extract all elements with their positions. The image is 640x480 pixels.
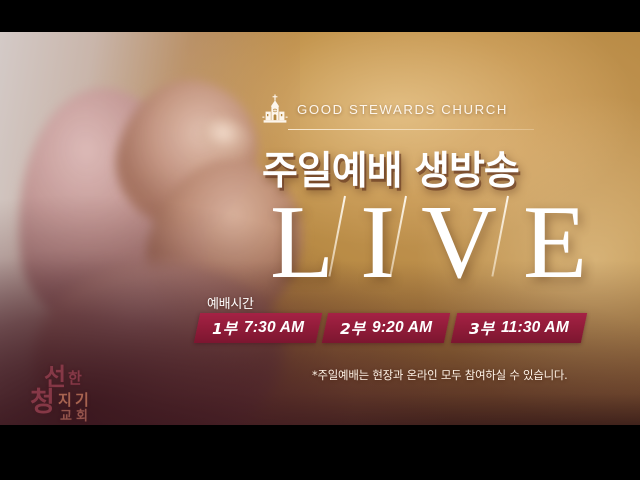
brand-name: GOOD STEWARDS CHURCH: [297, 102, 508, 117]
poster-content: GOOD STEWARDS CHURCH 주일예배 생방송 L I V E 예배…: [0, 32, 640, 425]
letterbox-bar-top: [0, 0, 640, 32]
live-letter-v: V: [421, 192, 497, 293]
live-slash-1: [334, 192, 360, 278]
service-time-2: 9:20 AM: [372, 319, 432, 337]
live-slash-3: [497, 192, 523, 278]
letterbox-bar-bottom: [0, 425, 640, 480]
service-times-label: 예배시간: [207, 293, 254, 312]
live-letter-l: L: [270, 192, 334, 293]
brand-divider: [288, 129, 534, 130]
live-slash-2: [395, 192, 421, 278]
service-part-2: 2부: [340, 317, 365, 339]
service-time-chip-2: 2부 9:20 AM: [322, 313, 451, 343]
service-part-1: 1부: [212, 317, 237, 339]
service-part-3: 3부: [469, 317, 494, 339]
service-time-3: 11:30 AM: [501, 319, 569, 337]
live-letter-i: I: [360, 192, 395, 293]
service-times-row: 1부 7:30 AM 2부 9:20 AM 3부 11:30 AM: [197, 313, 590, 343]
live-wordmark: L I V E: [270, 192, 587, 288]
church-icon: [262, 94, 288, 124]
service-time-chip-1: 1부 7:30 AM: [194, 313, 323, 343]
live-letter-e: E: [523, 192, 587, 293]
video-thumbnail: 선 한 청 지 기 교 회: [0, 0, 640, 480]
service-time-chip-3: 3부 11:30 AM: [450, 313, 586, 343]
service-time-1: 7:30 AM: [244, 319, 304, 337]
brand-row: GOOD STEWARDS CHURCH: [262, 94, 508, 124]
footnote-text: *주일예배는 현장과 온라인 모두 참여하실 수 있습니다.: [312, 367, 568, 383]
